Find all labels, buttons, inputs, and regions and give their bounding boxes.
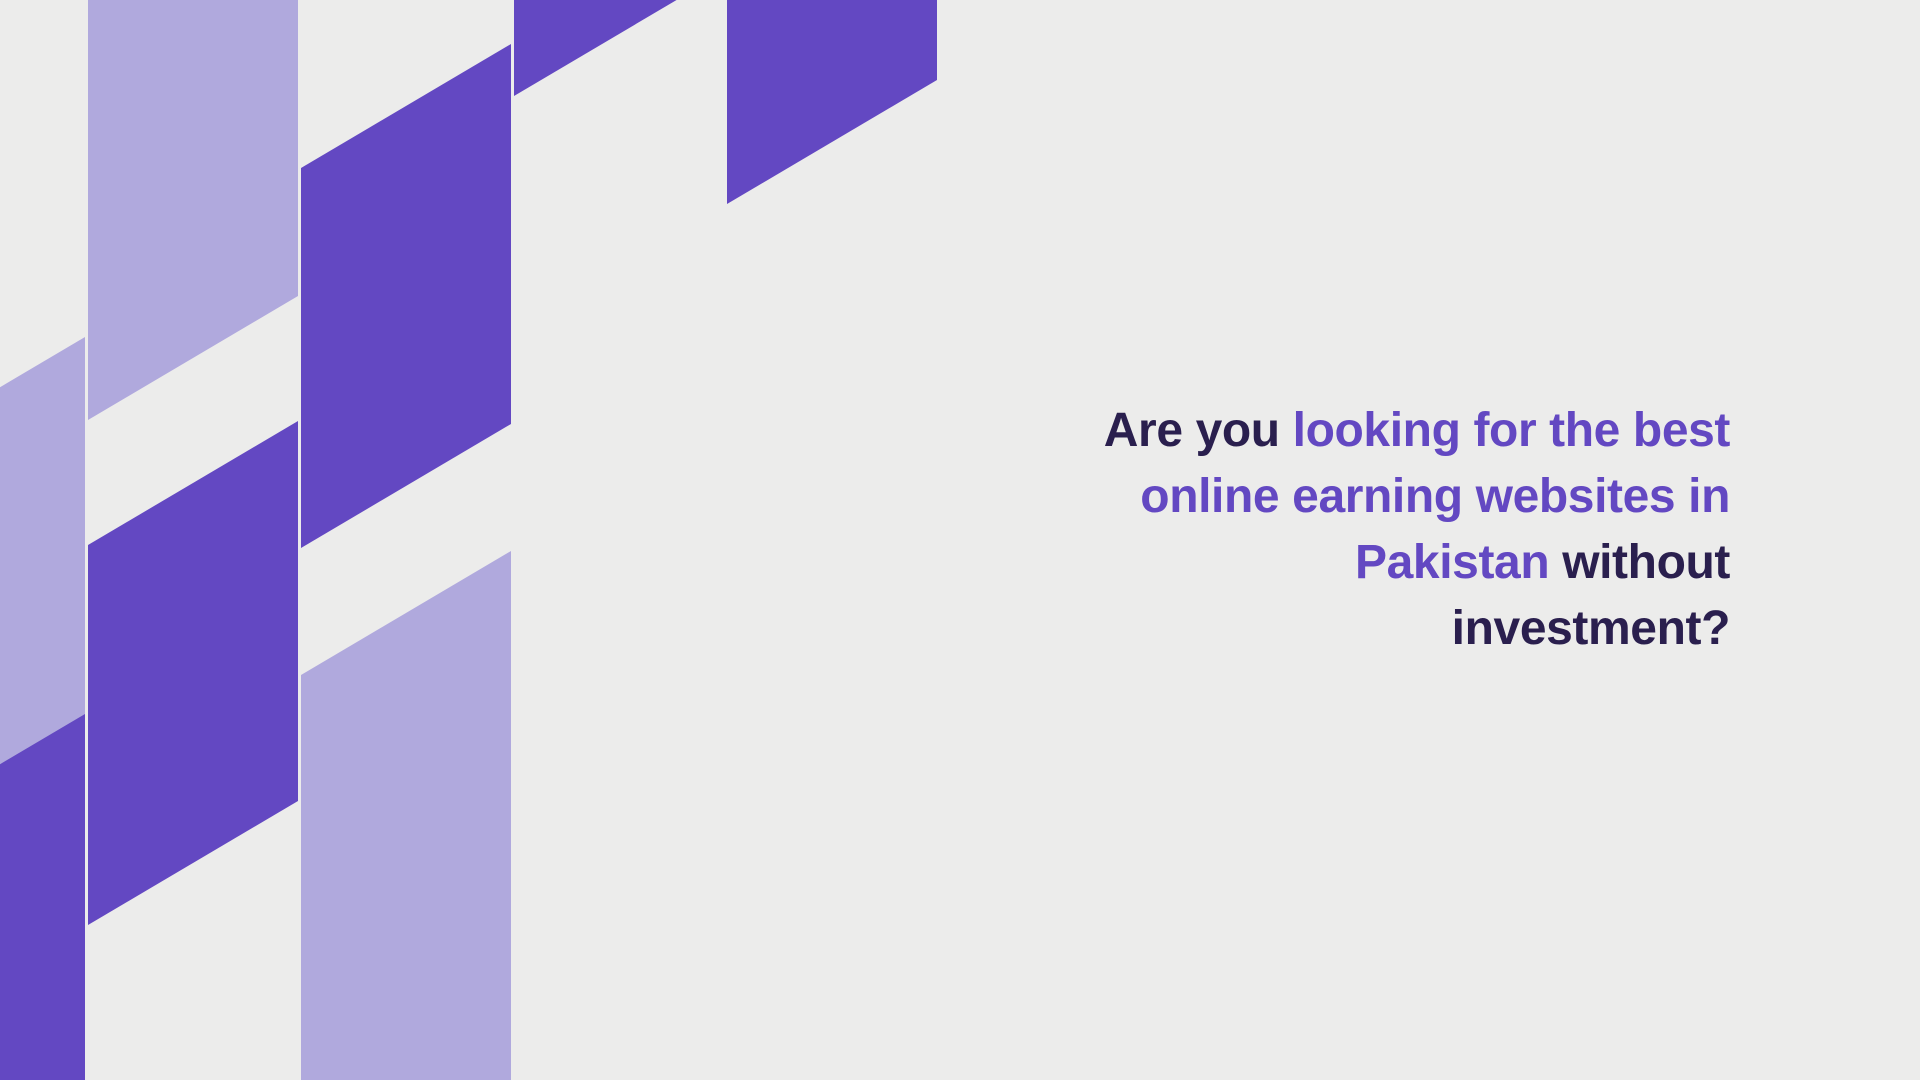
headline-line-2: online earning websites in (910, 464, 1730, 530)
headline-line-1: Are you looking for the best (910, 398, 1730, 464)
headline-line-4-dark: investment? (1452, 602, 1730, 655)
shape-dark-5 (0, 714, 85, 1080)
headline-line-3: Pakistan without (910, 530, 1730, 596)
headline-line-3-dark: without (1562, 536, 1730, 589)
slide-canvas: Are you looking for the best online earn… (0, 0, 1920, 1080)
headline: Are you looking for the best online earn… (910, 398, 1730, 662)
headline-line-3-accent: Pakistan (1355, 536, 1562, 589)
headline-line-2-accent: online earning websites in (1140, 470, 1730, 523)
headline-line-4: investment? (910, 596, 1730, 662)
headline-line-1-dark: Are you (1104, 404, 1293, 457)
headline-line-1-accent: looking for the best (1293, 404, 1730, 457)
